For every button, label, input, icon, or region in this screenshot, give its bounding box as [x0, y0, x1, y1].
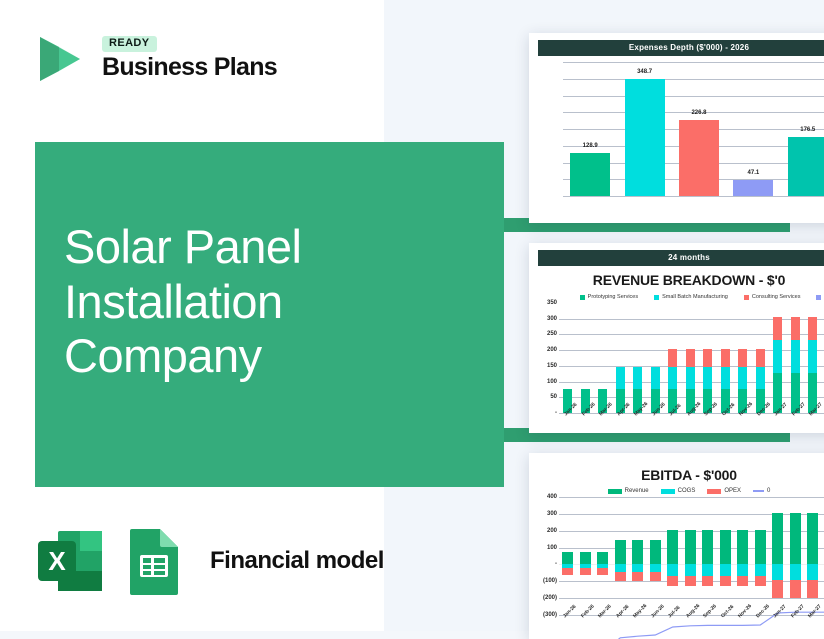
bar-series-revenue — [559, 303, 824, 413]
bar-segment — [703, 367, 712, 389]
legend-swatch — [816, 295, 821, 300]
bar: 176.5 — [788, 137, 824, 196]
y-tick-label: (200) — [543, 595, 557, 601]
x-tick-wrap: Mar-26 — [598, 413, 607, 419]
y-tick-label: 50 — [550, 394, 557, 400]
y-tick-label: 400 — [547, 494, 557, 500]
y-tick-label: - — [555, 410, 557, 416]
x-tick-wrap: Jul-26 — [667, 615, 678, 621]
bar-segment — [756, 367, 765, 389]
y-tick-label: (300) — [543, 612, 557, 618]
y-tick-label: - — [555, 561, 557, 567]
chart-header-24-months: 24 months — [538, 250, 824, 266]
x-tick-wrap: May-26 — [632, 615, 643, 621]
bar-value-label: 47.1 — [748, 170, 760, 176]
brand-name: Business Plans — [102, 54, 277, 82]
x-tick-wrap: Mar-26 — [597, 615, 608, 621]
chart-card-ebitda[interactable]: EBITDA - $'000 RevenueCOGSOPEX0 40030020… — [529, 453, 824, 639]
legend-label: Prototyping Services — [588, 294, 638, 300]
legend-item: COGS — [661, 488, 696, 494]
bar-segment — [686, 367, 695, 389]
bar-segment — [616, 367, 625, 389]
x-tick-wrap: Feb-27 — [791, 413, 800, 419]
x-tick-wrap: Apr-26 — [616, 413, 625, 419]
bar-segment — [808, 340, 817, 373]
chart-card-revenue-breakdown[interactable]: 24 months REVENUE BREAKDOWN - $'0 Protot… — [529, 243, 824, 433]
chart-card-expenses-depth[interactable]: Expenses Depth ($'000) - 2026 128.9348.7… — [529, 33, 824, 223]
plot-area-revenue: 35030025020015010050- Jan-26Feb-26Mar-26… — [533, 303, 824, 413]
play-triangle-logo-icon — [28, 28, 90, 90]
bar-value-label: 348.7 — [637, 69, 652, 75]
bar-segment — [721, 349, 730, 368]
footer-label: Financial model — [210, 547, 384, 575]
bar-segment — [668, 367, 677, 389]
x-tick-wrap: Jun-26 — [650, 615, 661, 621]
chart-title-expenses: Expenses Depth ($'000) - 2026 — [538, 40, 824, 56]
y-tick-label: 200 — [547, 528, 557, 534]
legend-item: Small Batch Manufacturing — [654, 294, 728, 300]
y-tick-label: 100 — [547, 545, 557, 551]
stacked-bar — [721, 349, 730, 413]
bar-segment — [703, 349, 712, 368]
bar-segment — [773, 317, 782, 340]
bar-value-label: 226.8 — [691, 110, 706, 116]
legend-label: COGS — [678, 488, 696, 494]
y-tick-label: 300 — [547, 511, 557, 517]
x-tick-wrap: Oct-26 — [721, 413, 730, 419]
y-tick-label: 100 — [547, 379, 557, 385]
x-tick-wrap: Feb-26 — [580, 615, 591, 621]
google-sheets-icon — [124, 525, 184, 597]
x-tick-wrap: Aug-26 — [686, 413, 695, 419]
chart-legend-revenue: Prototyping ServicesSmall Batch Manufact… — [529, 294, 824, 300]
bar-segment — [738, 349, 747, 368]
plot-area-ebitda: 400300200100-(100)(200)(300) Jan-26Feb-2… — [533, 497, 824, 615]
x-tick-wrap: Jan-27 — [772, 615, 783, 621]
legend-swatch — [744, 295, 749, 300]
legend-item: Prototyping Services — [580, 294, 638, 300]
stacked-bar — [686, 349, 695, 413]
x-tick-wrap: Jan-26 — [562, 615, 573, 621]
legend-swatch — [753, 490, 764, 492]
legend-item: Consulting Services — [744, 294, 801, 300]
stacked-bar — [756, 349, 765, 413]
x-tick-wrap: Nov-26 — [737, 615, 748, 621]
y-tick-label: 350 — [547, 300, 557, 306]
bar-segment — [791, 317, 800, 340]
microsoft-excel-icon: X — [36, 525, 102, 597]
x-tick-wrap: Dec-26 — [756, 413, 765, 419]
x-tick-wrap: Jun-26 — [651, 413, 660, 419]
x-tick-wrap: Dec-26 — [755, 615, 766, 621]
x-tick-wrap: Jul-26 — [668, 413, 677, 419]
chart-title-ebitda: EBITDA - $'000 — [529, 467, 824, 483]
stacked-bar — [773, 317, 782, 413]
x-tick-wrap: Jan-27 — [773, 413, 782, 419]
legend-label: Revenue — [625, 488, 649, 494]
legend-swatch — [661, 489, 675, 494]
bar-value-label: 128.9 — [583, 143, 598, 149]
legend-label: OPEX — [724, 488, 741, 494]
legend-swatch — [707, 489, 721, 494]
legend-swatch — [654, 295, 659, 300]
page-title: Solar Panel Installation Company — [64, 220, 302, 384]
x-tick-wrap: Nov-26 — [738, 413, 747, 419]
bar-series-expenses: 128.9348.7226.847.1176.5 — [563, 62, 824, 196]
stacked-bar — [808, 317, 817, 413]
legend-swatch — [608, 489, 622, 494]
bar-segment — [738, 367, 747, 389]
x-tick-wrap: Sep-26 — [702, 615, 713, 621]
bar-segment — [756, 349, 765, 368]
x-tick-wrap: May-26 — [633, 413, 642, 419]
y-axis-labels: 35030025020015010050- — [533, 303, 559, 413]
y-tick-label: 300 — [547, 316, 557, 322]
bar-segment — [633, 367, 642, 389]
gridline — [563, 196, 824, 197]
x-axis-labels: Jan-26Feb-26Mar-26Apr-26May-26Jun-26Jul-… — [559, 413, 824, 419]
bar-segment — [651, 367, 660, 389]
y-axis-labels: 400300200100-(100)(200)(300) — [533, 497, 559, 615]
bar: 348.7 — [625, 79, 665, 196]
y-tick-label: (100) — [543, 578, 557, 584]
x-tick-wrap: Mar-27 — [808, 413, 817, 419]
chart-legend-ebitda: RevenueCOGSOPEX0 — [529, 488, 824, 494]
x-tick-wrap: Sep-26 — [703, 413, 712, 419]
footer-row: X Financial model — [36, 525, 384, 597]
y-tick-label: 150 — [547, 363, 557, 369]
legend-item: 0 — [753, 488, 770, 494]
x-axis-labels: Jan-26Feb-26Mar-26Apr-26May-26Jun-26Jul-… — [559, 615, 824, 621]
x-tick-wrap: Feb-26 — [581, 413, 590, 419]
bar-segment — [721, 367, 730, 389]
bar: 47.1 — [733, 180, 773, 196]
bar-value-label: 176.5 — [800, 127, 815, 133]
legend-item: - — [816, 294, 824, 300]
bar-segment — [791, 340, 800, 373]
legend-swatch — [580, 295, 585, 300]
legend-label: 0 — [767, 488, 770, 494]
bar-segment — [686, 349, 695, 368]
bar-segment — [773, 340, 782, 373]
chart-title-revenue: REVENUE BREAKDOWN - $'0 — [529, 272, 824, 288]
y-tick-label: 200 — [547, 347, 557, 353]
title-card: Solar Panel Installation Company — [35, 142, 504, 487]
ready-badge: READY — [102, 36, 157, 52]
x-tick-wrap: Aug-26 — [685, 615, 696, 621]
bar-segment — [808, 317, 817, 340]
x-tick-wrap: Mar-27 — [807, 615, 818, 621]
x-tick-wrap: Jan-26 — [563, 413, 572, 419]
plot-area-expenses: 128.9348.7226.847.1176.5 — [537, 62, 824, 196]
brand-block: READY Business Plans — [28, 28, 277, 90]
x-tick-wrap: Apr-26 — [615, 615, 626, 621]
legend-label: Consulting Services — [752, 294, 801, 300]
bar: 128.9 — [570, 153, 610, 196]
bar: 226.8 — [679, 120, 719, 196]
legend-label: Small Batch Manufacturing — [662, 294, 728, 300]
legend-item: Revenue — [608, 488, 649, 494]
stacked-bar — [791, 317, 800, 413]
legend-item: OPEX — [707, 488, 741, 494]
x-tick-wrap: Oct-26 — [720, 615, 731, 621]
bar-segment — [668, 349, 677, 368]
svg-text:X: X — [48, 546, 66, 576]
x-tick-wrap: Feb-27 — [790, 615, 801, 621]
y-tick-label: 250 — [547, 331, 557, 337]
